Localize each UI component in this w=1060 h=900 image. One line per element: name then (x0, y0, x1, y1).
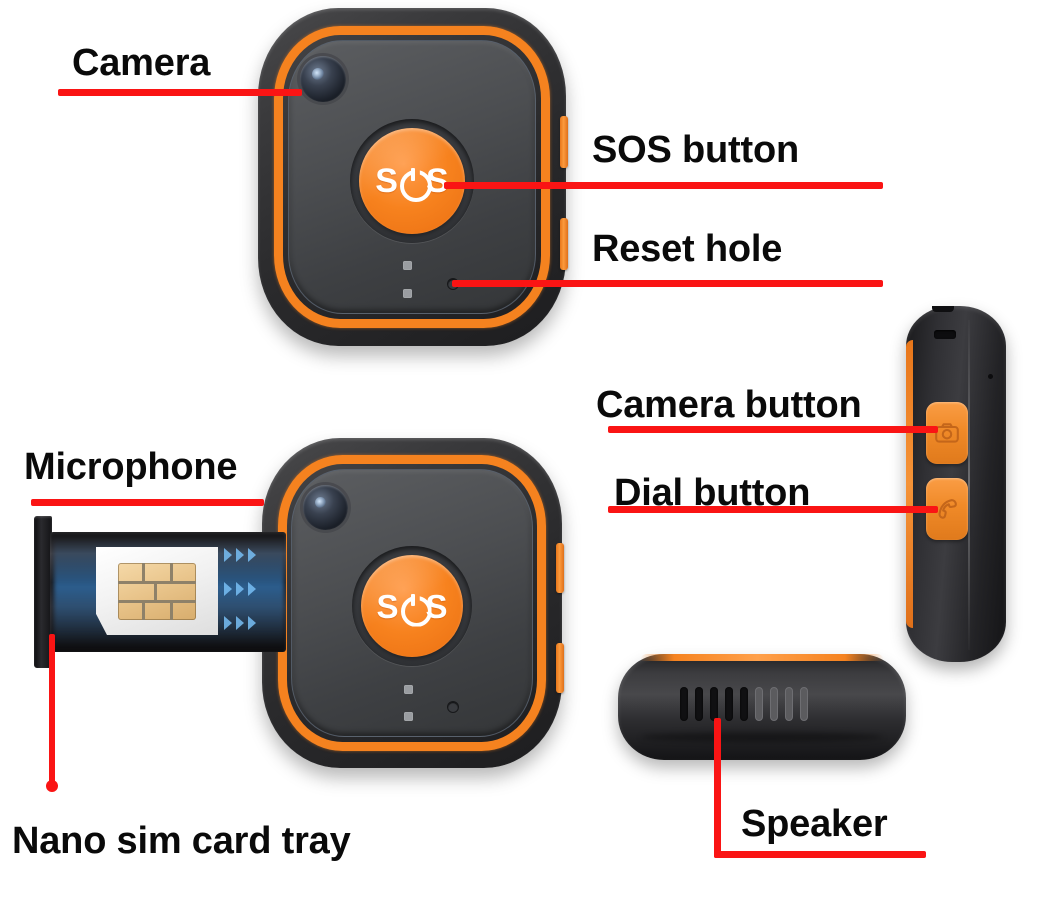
device-side-profile (906, 306, 1006, 662)
sim-chip-line (170, 563, 173, 581)
sim-chip-line (118, 581, 196, 584)
speaker-slot (755, 687, 763, 721)
camera-lens (303, 485, 348, 530)
sim-chip-line (170, 602, 173, 620)
side-camera-button-edge[interactable] (556, 543, 564, 593)
leader-line-dial-button (608, 506, 938, 513)
bottom-lip-shadow (641, 732, 883, 742)
device-bottom-view (618, 654, 906, 760)
sos-letter-left: S (377, 590, 399, 623)
side-camera-button[interactable] (926, 402, 968, 464)
device-front-top: S S (258, 8, 566, 346)
speaker-slot (680, 687, 688, 721)
speaker-slot (695, 687, 703, 721)
leader-dot-nano-sim (46, 780, 58, 792)
speaker-slot (740, 687, 748, 721)
side-dial-button-edge[interactable] (560, 218, 568, 270)
nano-sim-card (96, 547, 218, 635)
sos-button[interactable]: S S (361, 555, 463, 657)
callout-label-camera-button: Camera button (596, 386, 862, 424)
camera-icon (935, 423, 959, 443)
insertion-arrows (224, 544, 282, 640)
callout-label-sos-button: SOS button (592, 131, 799, 169)
callout-label-reset-hole: Reset hole (592, 230, 782, 268)
phone-handset-icon (935, 498, 959, 520)
device-front-bottom: S S (262, 438, 562, 768)
sos-button[interactable]: S S (359, 128, 465, 234)
camera-lens (300, 56, 346, 102)
speaker-grille (680, 687, 808, 721)
leader-line-speaker-vertical (714, 718, 721, 858)
callout-label-camera: Camera (72, 44, 210, 82)
sim-chip-line (154, 583, 157, 600)
speaker-slot (800, 687, 808, 721)
leader-line-nano-sim-vertical (49, 634, 55, 786)
callout-label-microphone: Microphone (24, 448, 237, 486)
diagram-canvas: S S S S (0, 0, 1060, 900)
speaker-slot (710, 687, 718, 721)
callout-label-speaker: Speaker (741, 805, 887, 843)
orange-edge-strip (640, 654, 884, 661)
sim-chip-line (142, 563, 145, 581)
lanyard-slot (934, 330, 956, 339)
power-icon (400, 168, 424, 194)
leader-line-speaker-horizontal (714, 851, 926, 858)
orange-edge-strip (906, 340, 913, 628)
leader-line-reset-hole (452, 280, 883, 287)
side-camera-button-edge[interactable] (560, 116, 568, 168)
leader-line-microphone (31, 499, 264, 506)
leader-line-camera-button (608, 426, 938, 433)
led-indicator-bottom (404, 712, 413, 721)
sos-letter-left: S (375, 164, 398, 198)
body-seam (968, 320, 970, 650)
side-dial-button-edge[interactable] (556, 643, 564, 693)
speaker-slot (785, 687, 793, 721)
speaker-slot (770, 687, 778, 721)
microphone-port (988, 374, 993, 379)
sim-tray (34, 516, 284, 668)
sim-chip-line (118, 600, 196, 603)
callout-label-nano-sim: Nano sim card tray (12, 822, 351, 860)
leader-line-sos-button (444, 182, 883, 189)
sim-chip-line (142, 602, 145, 620)
sim-chip-contacts (118, 563, 196, 620)
reset-hole[interactable] (447, 701, 459, 713)
speaker-slot (725, 687, 733, 721)
top-notch (932, 306, 954, 312)
leader-line-camera (58, 89, 302, 96)
led-indicator-bottom (403, 289, 412, 298)
led-indicator-top (404, 685, 413, 694)
led-indicator-top (403, 261, 412, 270)
power-icon (401, 594, 424, 619)
